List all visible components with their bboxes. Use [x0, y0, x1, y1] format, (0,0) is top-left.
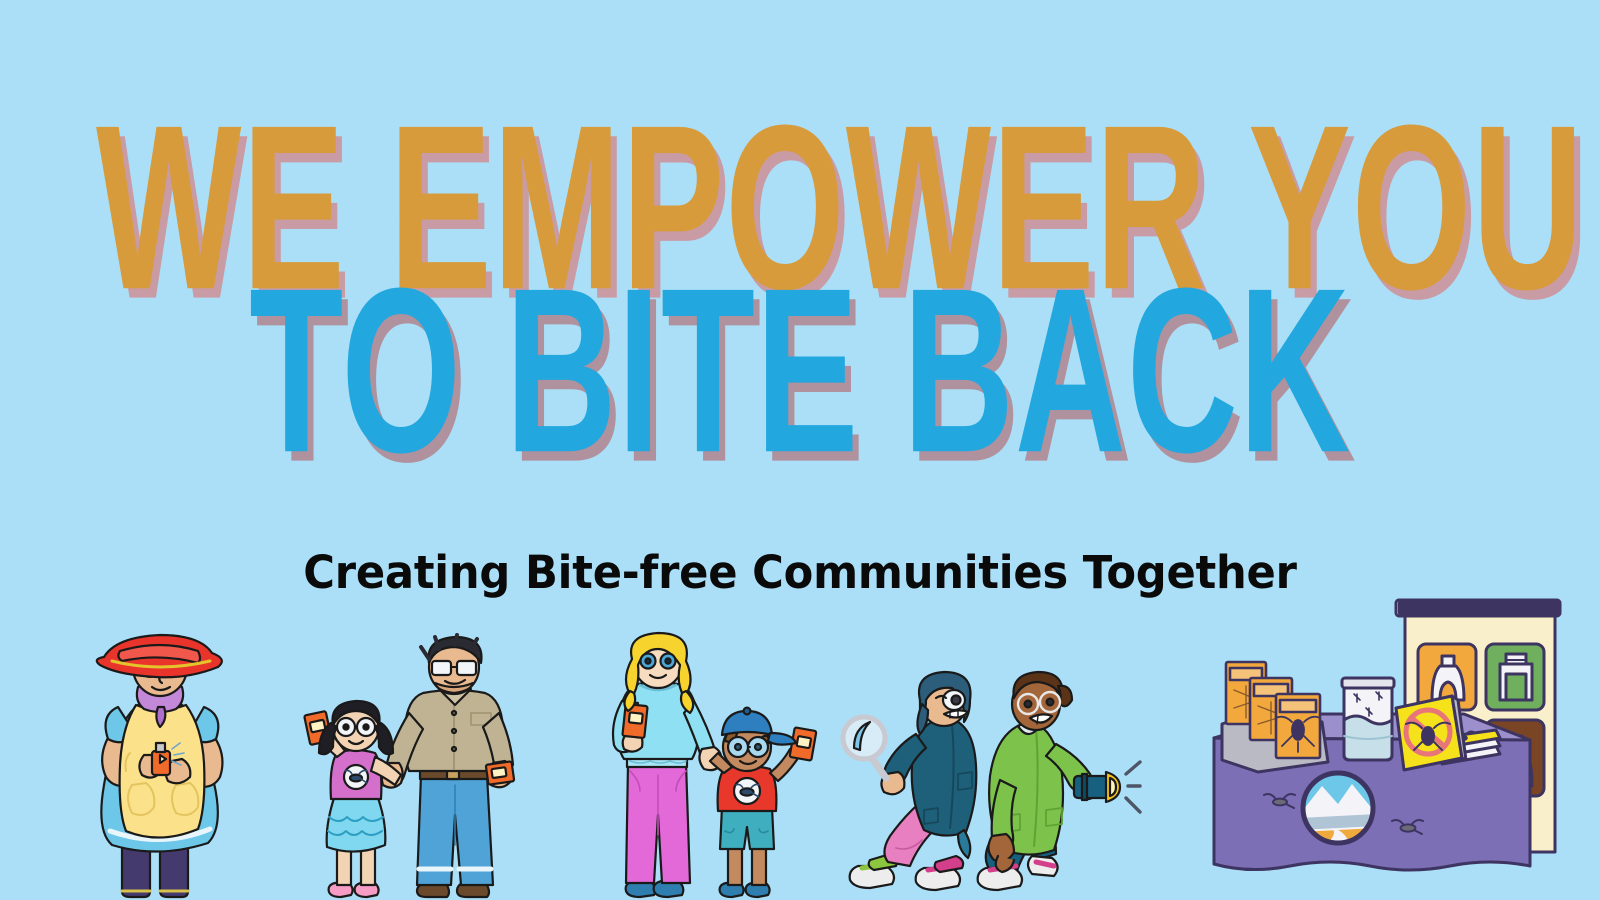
banner-root: WE EMPOWER YOU TO BITE BACK Creating Bit… — [0, 0, 1600, 900]
grandmother-illustration — [60, 635, 270, 900]
father-daughter-illustration — [305, 635, 520, 900]
booth-illustration — [1200, 590, 1560, 900]
brochure-rack — [1222, 662, 1328, 772]
red-sun-hat-icon — [97, 635, 222, 677]
brochure — [1276, 694, 1320, 758]
figure-father-and-daughter — [305, 635, 520, 900]
repellent-packet-icon — [486, 761, 515, 784]
figure-mosquito-investigators — [840, 670, 1140, 900]
headline-line-1: WE EMPOWER YOU — [96, 101, 1504, 317]
figure-mother-and-son — [600, 635, 820, 900]
no-mosquito-sign — [1396, 696, 1466, 770]
headline-block: WE EMPOWER YOU TO BITE BACK — [0, 128, 1600, 452]
headline-line-2: TO BITE BACK — [96, 264, 1504, 480]
larvae-jar — [1342, 678, 1394, 760]
repellent-box-icon — [1500, 654, 1532, 700]
investigators-illustration — [840, 670, 1140, 900]
flashlight-beam — [1126, 762, 1140, 812]
mother-son-illustration — [600, 635, 820, 900]
magnifying-glass-icon — [843, 717, 886, 778]
figure-outreach-booth — [1200, 590, 1560, 900]
figure-grandmother-with-repellent — [60, 635, 270, 900]
flashlight-icon — [1074, 772, 1120, 802]
